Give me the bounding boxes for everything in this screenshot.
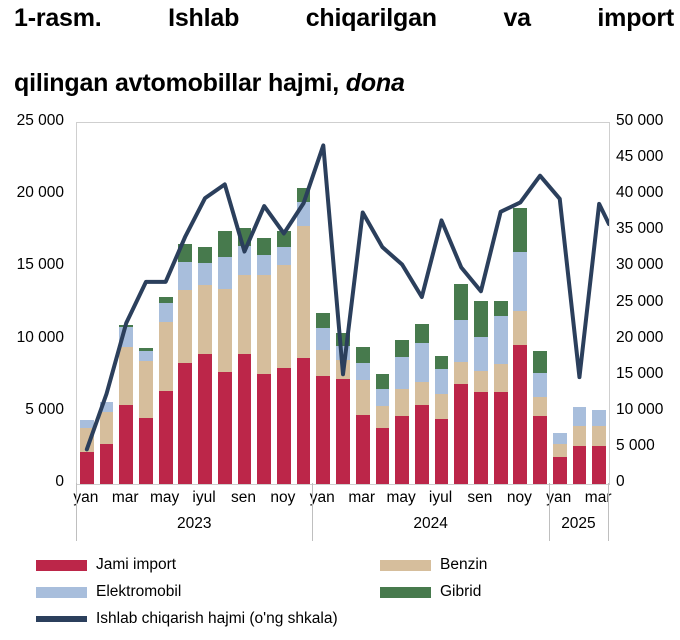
y-axis-right-tick: 15 000 xyxy=(616,365,663,383)
legend-label-benzin: Benzin xyxy=(440,556,487,574)
legend-label-elektromobil: Elektromobil xyxy=(96,583,181,601)
legend-item-gibrid[interactable]: Gibrid xyxy=(380,583,481,601)
x-axis-group-separator xyxy=(76,483,77,541)
chart-figure: 05 00010 00015 00020 00025 00005 00010 0… xyxy=(0,104,680,554)
x-axis-group-separator xyxy=(608,483,609,541)
y-axis-left-tick: 5 000 xyxy=(25,401,64,419)
y-axis-left-tick: 25 000 xyxy=(17,112,64,130)
y-axis-right-tick: 50 000 xyxy=(616,112,663,130)
production-line-path xyxy=(87,145,609,449)
y-axis-right-tick: 30 000 xyxy=(616,256,663,274)
x-axis-group-separator xyxy=(549,483,550,541)
legend-item-jami-import[interactable]: Jami import xyxy=(36,556,176,574)
x-axis-year-label: 2025 xyxy=(549,515,608,533)
chart-legend: Jami importBenzinElektromobilGibridIshla… xyxy=(0,556,680,640)
y-axis-right-tick: 40 000 xyxy=(616,184,663,202)
page-title-line-1: 1-rasm. Ishlab chiqarilgan va import xyxy=(14,2,674,67)
legend-label-gibrid: Gibrid xyxy=(440,583,481,601)
page-title-line-2-plain: qilingan avtomobillar hajmi, xyxy=(14,69,339,97)
legend-swatch-ishlab-chiqarish-hajmi xyxy=(36,616,87,622)
y-axis-right-tick: 25 000 xyxy=(616,293,663,311)
legend-swatch-elektromobil xyxy=(36,587,87,598)
y-axis-left-tick: 20 000 xyxy=(17,184,64,202)
legend-item-ishlab-chiqarish-hajmi[interactable]: Ishlab chiqarish hajmi (o'ng shkala) xyxy=(36,610,338,628)
legend-label-jami-import: Jami import xyxy=(96,556,176,574)
y-axis-right-tick: 45 000 xyxy=(616,148,663,166)
y-axis-right-tick: 5 000 xyxy=(616,437,655,455)
y-axis-right-tick: 20 000 xyxy=(616,329,663,347)
plot-area xyxy=(76,122,610,485)
legend-swatch-gibrid xyxy=(380,587,431,598)
y-axis-left-tick: 10 000 xyxy=(17,329,64,347)
y-axis-right-tick: 10 000 xyxy=(616,401,663,419)
legend-item-elektromobil[interactable]: Elektromobil xyxy=(36,583,181,601)
production-line-series xyxy=(77,123,609,484)
x-axis-tick-label: mar xyxy=(568,489,628,507)
x-axis-year-label: 2024 xyxy=(312,515,548,533)
x-axis-group-separator xyxy=(312,483,313,541)
y-axis-left-tick: 15 000 xyxy=(17,256,64,274)
legend-swatch-jami-import xyxy=(36,560,87,571)
x-axis-year-label: 2023 xyxy=(76,515,312,533)
legend-label-ishlab-chiqarish-hajmi: Ishlab chiqarish hajmi (o'ng shkala) xyxy=(96,610,338,628)
page-title-line-2-italic: dona xyxy=(339,69,405,97)
legend-item-benzin[interactable]: Benzin xyxy=(380,556,487,574)
legend-swatch-benzin xyxy=(380,560,431,571)
page-title-line-2: qilingan avtomobillar hajmi, dona xyxy=(14,67,674,100)
page-title: 1-rasm. Ishlab chiqarilgan va import qil… xyxy=(14,2,674,100)
y-axis-right-tick: 35 000 xyxy=(616,220,663,238)
